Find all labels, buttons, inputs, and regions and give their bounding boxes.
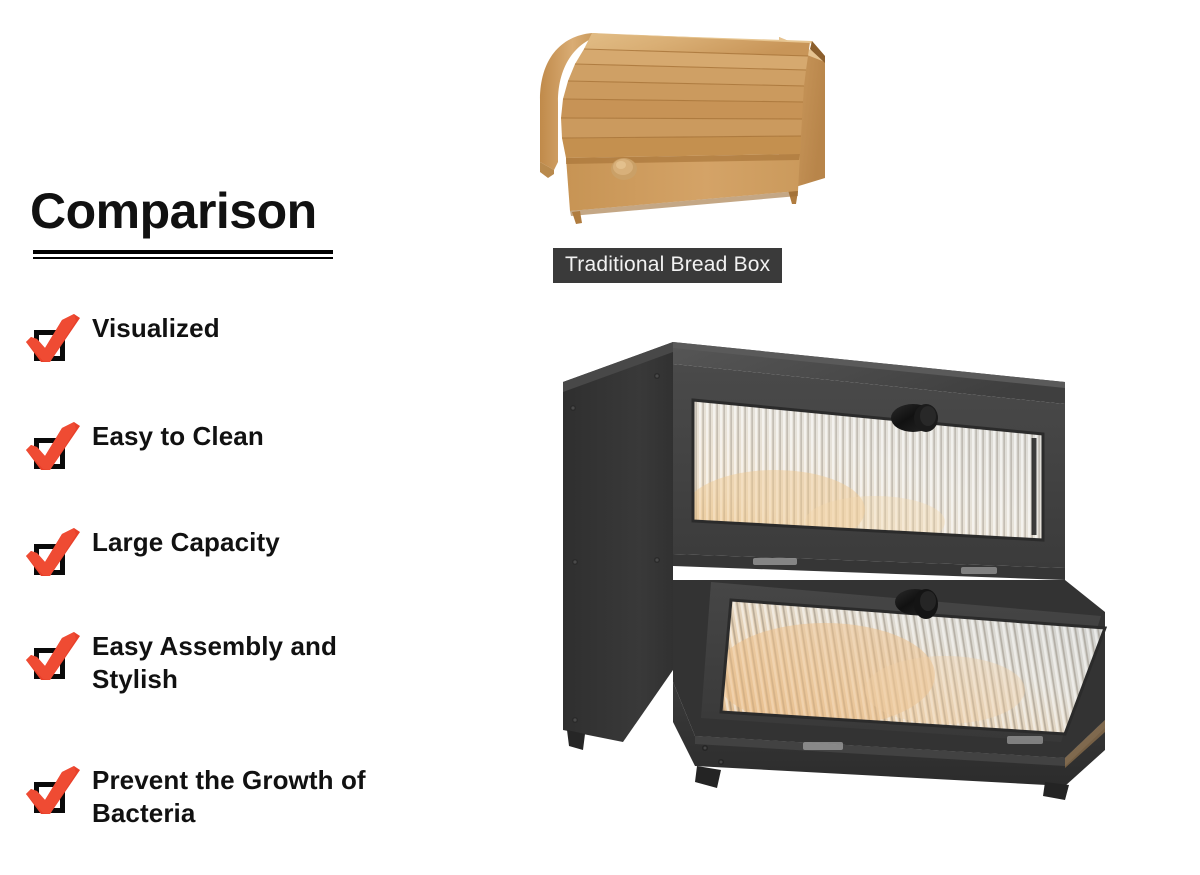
checkmark-icon	[24, 630, 82, 686]
checkmark-icon	[24, 420, 82, 476]
comparison-infographic: Comparison Visualized	[0, 0, 1200, 875]
left-feature-panel: Comparison Visualized	[0, 0, 470, 875]
feature-item-large-capacity: Large Capacity	[28, 526, 280, 580]
right-product-panel: Traditional Bread Box	[470, 0, 1200, 875]
checkbox-checked	[28, 322, 74, 366]
checkmark-icon	[24, 526, 82, 582]
feature-label: Easy Assembly and Stylish	[92, 630, 422, 697]
checkmark-icon	[24, 312, 82, 368]
checkbox-checked	[28, 774, 74, 818]
traditional-bread-box-image	[492, 12, 832, 234]
page-title: Comparison	[30, 186, 317, 236]
modern-box-left-side-panel	[563, 342, 673, 750]
feature-label: Prevent the Growth of Bacteria	[92, 764, 422, 831]
checkmark-icon	[24, 764, 82, 820]
feature-item-visualized: Visualized	[28, 312, 220, 366]
traditional-bread-box-caption: Traditional Bread Box	[553, 248, 782, 283]
feature-item-easy-assembly-and-stylish: Easy Assembly and Stylish	[28, 630, 422, 697]
wood-box-rolltop-slats	[561, 33, 810, 158]
title-divider	[33, 250, 333, 259]
checkbox-checked	[28, 640, 74, 684]
modern-bread-box-image	[545, 330, 1200, 830]
feature-label: Visualized	[92, 312, 220, 345]
feature-item-prevent-growth-of-bacteria: Prevent the Growth of Bacteria	[28, 764, 422, 831]
checkbox-checked	[28, 536, 74, 580]
wood-box-knob	[611, 158, 637, 180]
feature-item-easy-to-clean: Easy to Clean	[28, 420, 264, 474]
feature-label: Large Capacity	[92, 526, 280, 559]
divider-rule-thin	[33, 257, 333, 259]
modern-box-upper-knob[interactable]	[891, 404, 938, 432]
feature-label: Easy to Clean	[92, 420, 264, 453]
checkbox-checked	[28, 430, 74, 474]
wood-box-front-panel	[566, 154, 800, 224]
